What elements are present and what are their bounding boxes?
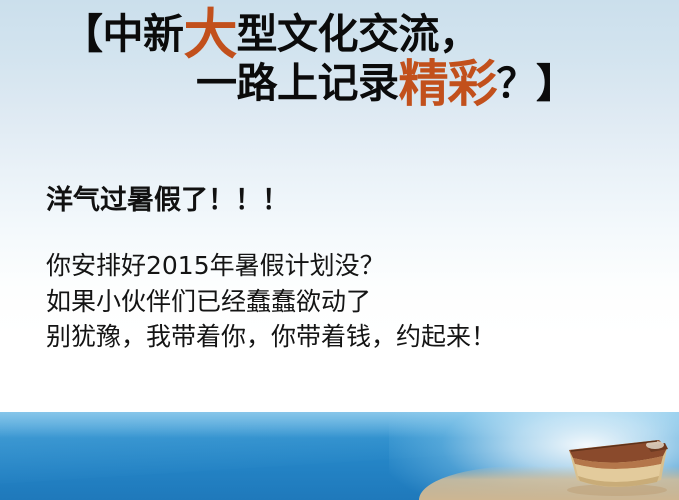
paragraph-line: 如果小伙伴们已经蠢蠢欲动了 — [46, 284, 496, 320]
poster-canvas: 【中新大型文化交流， 一路上记录精彩？】 洋气过暑假了！！！ 你安排好2015年… — [0, 0, 679, 500]
paragraph-line: 你安排好2015年暑假计划没？ — [46, 248, 496, 284]
body-paragraph: 你安排好2015年暑假计划没？ 如果小伙伴们已经蠢蠢欲动了 别犹豫，我带着你，你… — [46, 248, 496, 355]
headline-line2-tail: ？】 — [497, 64, 576, 105]
headline: 【中新大型文化交流， 一路上记录精彩？】 — [0, 8, 679, 105]
headline-line1-rest: 型文化交流， — [237, 14, 480, 56]
boat-illustration — [555, 424, 673, 496]
headline-line1-accent: 大 — [184, 13, 237, 57]
headline-line-2: 一路上记录精彩？】 — [0, 60, 679, 105]
headline-line-1: 【中新大型文化交流， — [0, 8, 679, 56]
headline-line2-lead: 一路上记录 — [196, 63, 399, 105]
ocean-footer-band: 【豫见·新加坡】 1066城市之声 — [0, 412, 679, 500]
paragraph-line: 别犹豫，我带着你，你带着钱，约起来！ — [46, 319, 496, 355]
headline-line1-open: 【中新 — [62, 14, 184, 56]
headline-line2-accent: 精彩 — [399, 64, 497, 105]
subheading: 洋气过暑假了！！！ — [46, 178, 289, 217]
